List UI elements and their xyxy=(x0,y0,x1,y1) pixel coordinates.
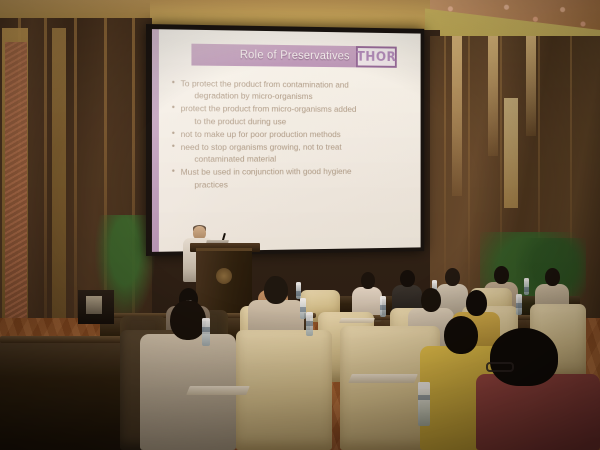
slide-bullet: need to stop organisms growing, not to t… xyxy=(172,141,410,165)
bullet-line-2: contaminated material xyxy=(181,153,410,166)
wall-slat xyxy=(44,18,47,348)
conference-room-photo: Role of Preservatives THOR To protect th… xyxy=(0,0,600,450)
water-bottle xyxy=(516,294,522,315)
slide-title: Role of Preservatives xyxy=(240,49,350,62)
thor-logo-text: THOR xyxy=(357,49,397,64)
slide-bullet: Must be used in conjunction with good hy… xyxy=(172,165,410,190)
bullet-line-2: practices xyxy=(181,177,410,190)
attendee-head xyxy=(490,328,558,386)
attendee-head xyxy=(170,300,206,340)
handout-paper xyxy=(348,374,418,383)
attendee-head xyxy=(264,276,288,304)
attendee-head xyxy=(400,270,415,287)
attendee-body xyxy=(476,374,600,450)
slide-bullet: protect the product from micro-organisms… xyxy=(172,103,410,128)
wall-light-strip xyxy=(526,36,536,136)
bullet-line-1: Must be used in conjunction with good hy… xyxy=(181,167,352,178)
attendee-head xyxy=(545,268,560,286)
attendee-head xyxy=(421,288,441,312)
attendee-head xyxy=(494,266,509,284)
gold-wall-accent xyxy=(52,28,66,328)
bullet-line-1: need to stop organisms growing, not to t… xyxy=(181,142,342,152)
glasses-icon xyxy=(486,362,514,372)
decorative-art-panel xyxy=(5,42,27,332)
framed-picture xyxy=(86,296,102,314)
water-bottle xyxy=(524,278,529,295)
bullet-line-1: protect the product from micro-organisms… xyxy=(181,104,357,115)
bullet-line-2: to the product during use xyxy=(181,115,410,128)
bullet-line-1: To protect the product from contaminatio… xyxy=(181,78,349,89)
water-bottle xyxy=(306,312,313,336)
handout-paper xyxy=(339,318,375,323)
thor-logo: THOR xyxy=(356,46,397,68)
chair xyxy=(236,330,332,450)
attendee-head xyxy=(445,268,460,286)
gold-wall-accent xyxy=(2,28,28,328)
slide-bullet: not to make up for poor production metho… xyxy=(172,128,410,140)
handout-paper xyxy=(186,386,250,395)
wall-mirror-strip xyxy=(504,98,518,208)
wall-light-strip xyxy=(452,36,462,196)
attendee-head xyxy=(466,290,487,316)
slide-bullet: To protect the product from contaminatio… xyxy=(172,77,410,103)
water-bottle xyxy=(418,382,430,426)
attendee-head xyxy=(444,316,478,354)
water-bottle xyxy=(380,296,386,317)
lectern-emblem xyxy=(216,268,232,284)
list-item xyxy=(140,300,236,450)
projection-screen-frame: Role of Preservatives THOR To protect th… xyxy=(146,24,424,256)
attendee-head xyxy=(361,272,375,289)
bullet-line-2: degradation by micro-organisms xyxy=(181,89,410,102)
bullet-line-1: not to make up for poor production metho… xyxy=(181,129,341,139)
wall-light-strip xyxy=(488,36,498,156)
projection-screen: Role of Preservatives THOR To protect th… xyxy=(152,29,421,252)
wall-slat xyxy=(74,18,77,348)
list-item xyxy=(476,328,600,450)
slide-left-accent-bar xyxy=(152,29,159,252)
slide-bullet-list: To protect the product from contaminatio… xyxy=(172,77,410,191)
water-bottle xyxy=(202,318,210,346)
